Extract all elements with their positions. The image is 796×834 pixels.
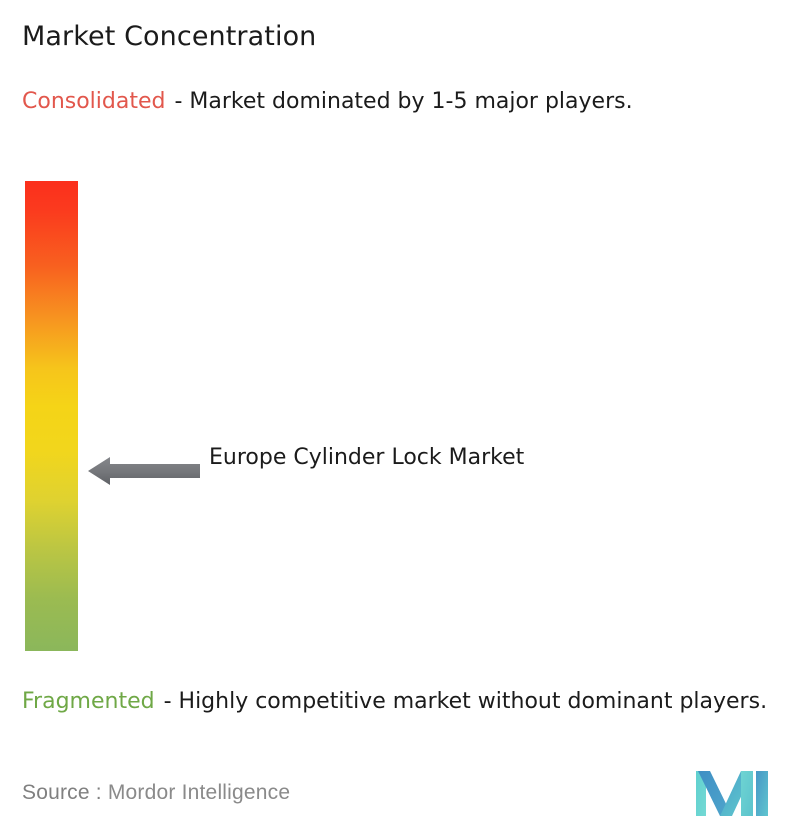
legend-fragmented-description: - Highly competitive market without domi… [164, 689, 767, 714]
legend-fragmented: Fragmented- Highly competitive market wi… [22, 686, 784, 718]
legend-consolidated-term: Consolidated [22, 89, 165, 114]
footer-divider [0, 762, 796, 763]
legend-fragmented-term: Fragmented [22, 689, 155, 714]
page-title: Market Concentration [22, 21, 316, 52]
chart-canvas: Market Concentration Consolidated- Marke… [0, 0, 796, 834]
legend-consolidated: Consolidated- Market dominated by 1-5 ma… [22, 86, 762, 118]
market-callout-label: Europe Cylinder Lock Market [209, 440, 549, 475]
market-callout: Europe Cylinder Lock Market [88, 440, 548, 510]
source-label: Source : [22, 781, 102, 804]
source-attribution: Source : Mordor Intelligence [22, 781, 290, 805]
mordor-intelligence-logo-icon [696, 771, 768, 816]
concentration-gradient-bar [25, 181, 78, 651]
legend-consolidated-description: - Market dominated by 1-5 major players. [174, 89, 632, 114]
source-value: Mordor Intelligence [108, 781, 290, 804]
left-arrow-icon [88, 456, 200, 486]
